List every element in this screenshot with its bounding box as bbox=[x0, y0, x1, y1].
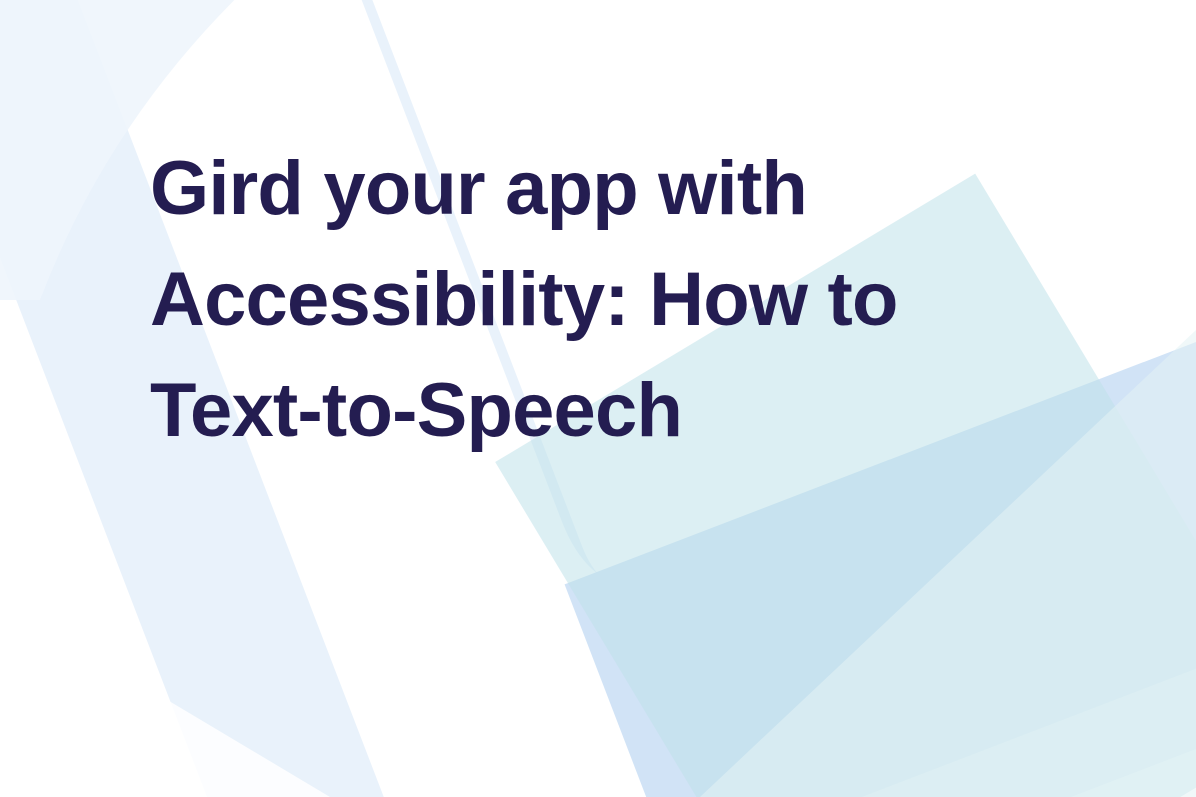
headline-line-3: Text-to-Speech bbox=[150, 355, 1070, 466]
hero-banner: Gird your app with Accessibility: How to… bbox=[0, 0, 1196, 797]
page-title: Gird your app with Accessibility: How to… bbox=[150, 133, 1070, 466]
headline-line-2: Accessibility: How to bbox=[150, 244, 1070, 355]
headline-line-1: Gird your app with bbox=[150, 133, 1070, 244]
